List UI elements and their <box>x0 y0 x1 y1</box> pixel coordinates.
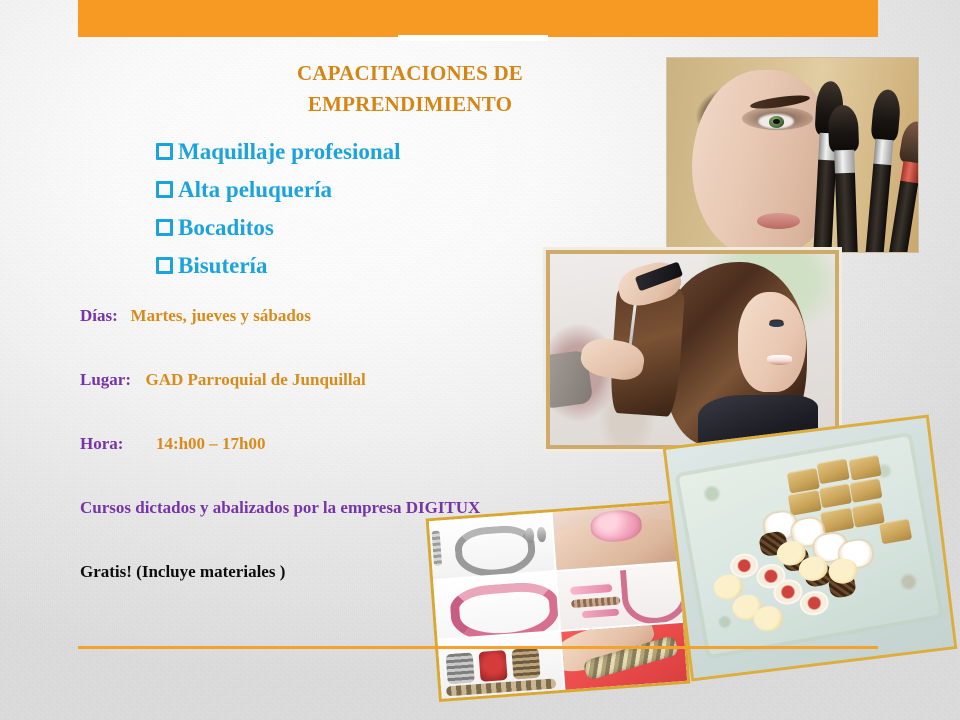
earring-shape <box>537 527 547 543</box>
detail-label-dias: Días: <box>80 306 118 325</box>
footer-rule <box>78 646 878 649</box>
decorative-white-sliver <box>398 35 548 41</box>
serving-tray <box>675 432 945 660</box>
lips-shape <box>757 213 800 229</box>
note-text: Cursos dictados y abalizados por la empr… <box>80 498 480 517</box>
hair-photo <box>546 250 839 449</box>
ring-shape <box>512 647 541 679</box>
detail-value-dias: Martes, jueves y sábados <box>131 306 311 325</box>
jewelry-cell-necklace-pink <box>433 572 559 639</box>
presentation-slide: CAPACITACIONES DE EMPRENDIMIENTO Maquill… <box>0 0 960 720</box>
detail-value-hora: 14:h00 – 17h00 <box>156 434 266 453</box>
bracelet-bar <box>432 531 442 566</box>
checkbox-icon <box>156 257 173 274</box>
checkbox-icon <box>156 219 173 236</box>
ring-shape <box>479 650 508 682</box>
course-label: Bocaditos <box>178 216 274 239</box>
jewelry-photo <box>426 500 691 702</box>
course-list: Maquillaje profesional Alta peluquería B… <box>156 132 401 284</box>
beaded-band-shape <box>571 596 620 607</box>
jewelry-cell-rings <box>438 632 564 699</box>
jewelry-cell-assorted <box>557 563 683 630</box>
page-title: CAPACITACIONES DE EMPRENDIMIENTO <box>180 58 640 120</box>
jewelry-cell-necklace-gray <box>429 512 555 579</box>
checkbox-icon <box>156 181 173 198</box>
detail-label-lugar: Lugar: <box>80 370 131 389</box>
ring-shape <box>446 652 475 684</box>
necklace-shape <box>448 580 559 639</box>
course-item-bisuteria: Bisutería <box>156 246 401 284</box>
course-label: Bisutería <box>178 254 267 277</box>
course-item-maquillaje: Maquillaje profesional <box>156 132 401 170</box>
earring-shape <box>525 528 535 544</box>
jewelry-cell-pink-cuff <box>552 503 678 570</box>
pink-strand-shape <box>620 566 682 627</box>
course-label: Maquillaje profesional <box>178 140 401 163</box>
jewelry-collage-grid <box>429 503 687 699</box>
title-line-1: CAPACITACIONES DE <box>180 58 640 89</box>
pupil-shape <box>773 119 780 124</box>
makeup-photo-content <box>667 58 918 252</box>
course-label: Alta peluquería <box>178 178 332 201</box>
course-item-bocaditos: Bocaditos <box>156 208 401 246</box>
title-line-2: EMPRENDIMIENTO <box>180 89 640 120</box>
free-text: Gratis! (Incluye materiales ) <box>80 562 285 581</box>
face-shape <box>738 292 806 391</box>
jewelry-cell-bracelet <box>561 623 687 690</box>
course-item-peluqueria: Alta peluquería <box>156 170 401 208</box>
detail-label-hora: Hora: <box>80 434 123 453</box>
hair-clip-shape <box>570 584 612 595</box>
tray-floral-pattern <box>675 432 945 660</box>
food-photo <box>663 415 958 682</box>
food-photo-content <box>666 418 954 678</box>
hair-photo-content <box>550 254 835 445</box>
smile-shape <box>767 355 793 365</box>
makeup-brush-icon <box>832 104 857 252</box>
makeup-photo <box>667 58 918 252</box>
hair-clip-shape <box>582 608 619 618</box>
detail-value-lugar: GAD Parroquial de Junquillal <box>146 370 366 389</box>
header-banner <box>78 0 878 37</box>
checkbox-icon <box>156 143 173 160</box>
